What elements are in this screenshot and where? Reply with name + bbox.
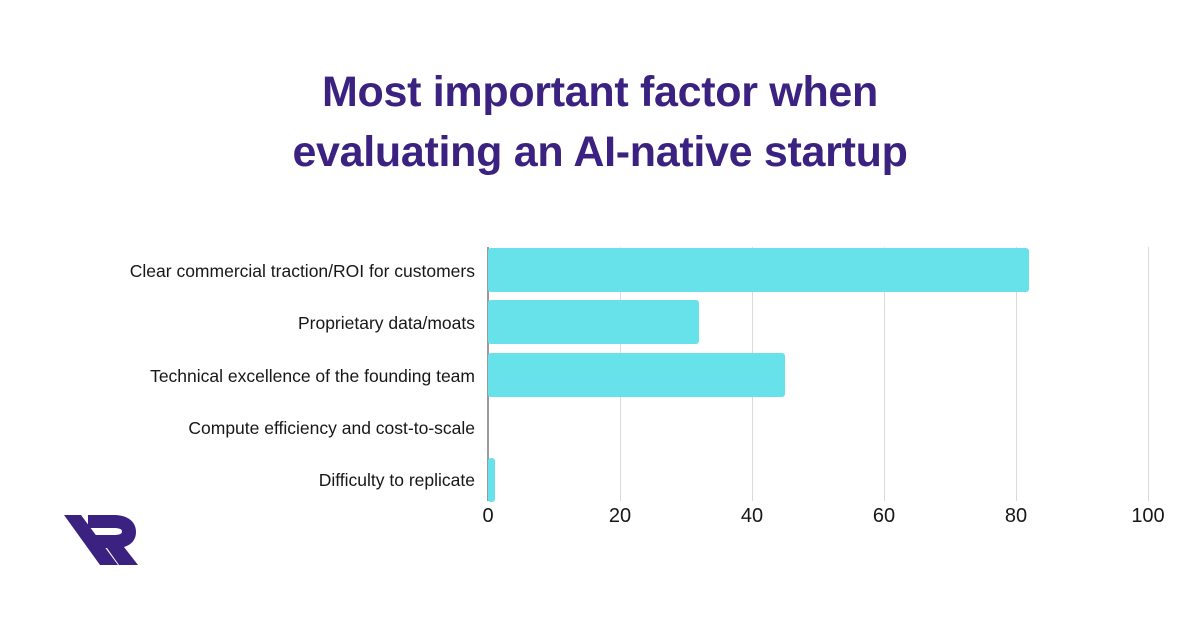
x-axis-tick-label: 0	[482, 505, 493, 528]
x-axis-tick-label: 80	[1005, 505, 1027, 528]
chart-plot-area: Clear commercial traction/ROI for custom…	[0, 0, 1200, 628]
r-monogram-logo	[62, 511, 140, 569]
bar	[488, 353, 785, 397]
bar	[488, 300, 699, 344]
x-axis-tick-label: 100	[1131, 505, 1164, 528]
x-axis-tick-label: 40	[741, 505, 763, 528]
bar	[488, 248, 1029, 292]
r-monogram-icon	[62, 511, 140, 569]
bar-series	[0, 0, 1200, 628]
bar	[488, 458, 495, 502]
x-axis-tick-label: 20	[609, 505, 631, 528]
x-axis-tick-label: 60	[873, 505, 895, 528]
